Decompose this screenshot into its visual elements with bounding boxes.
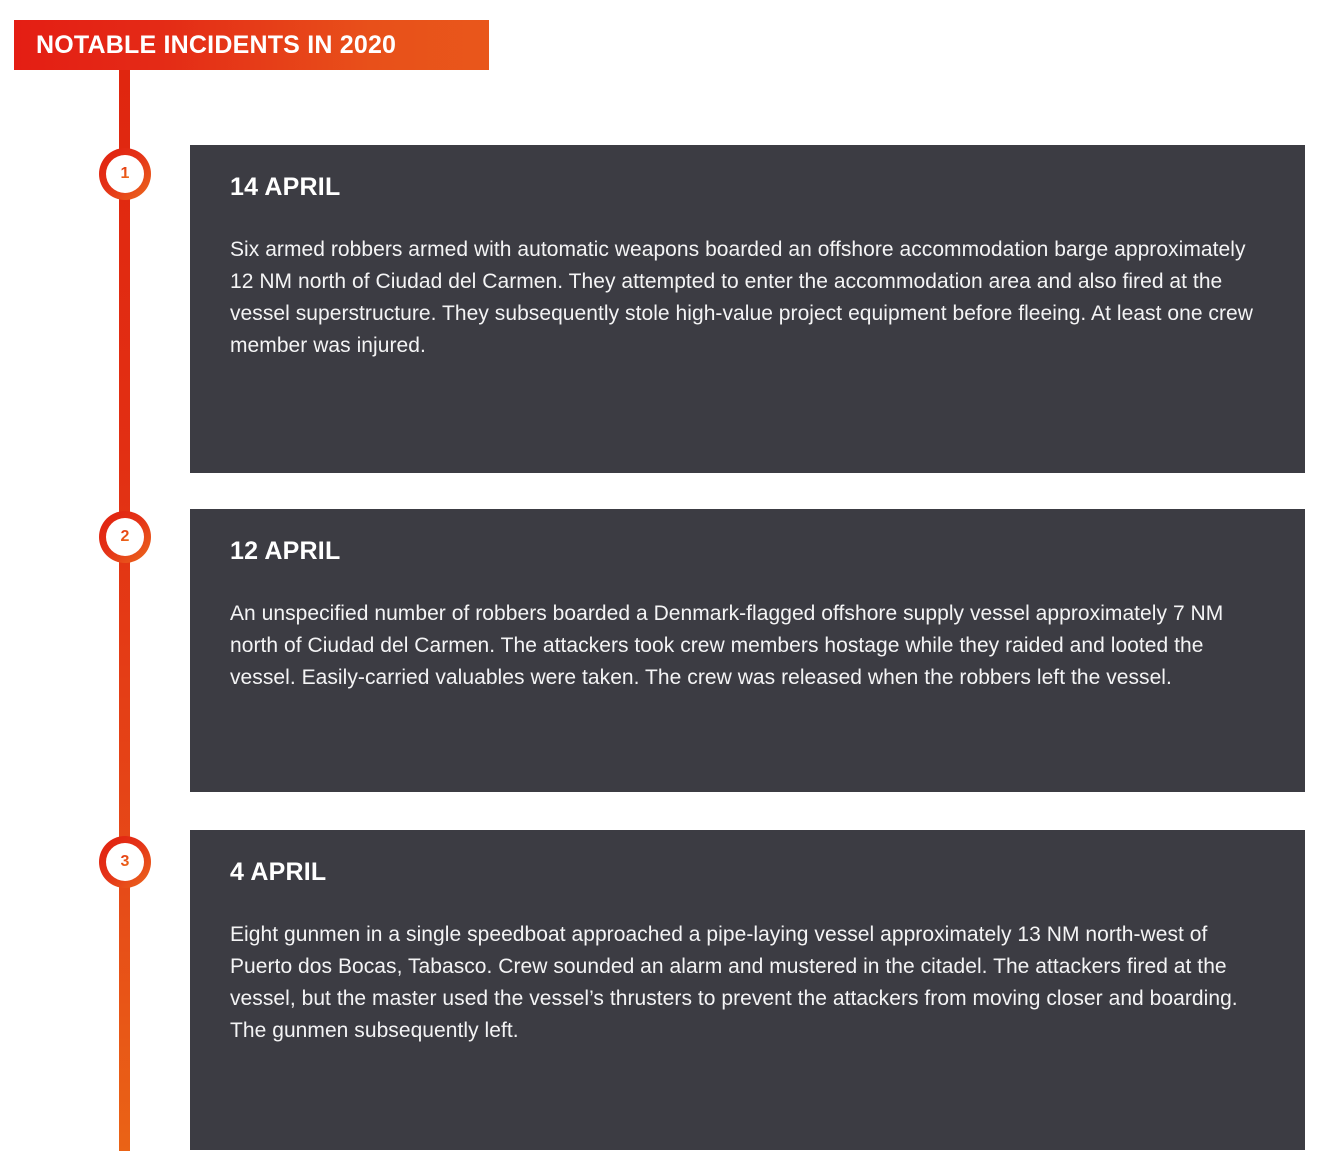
incident-description: An unspecified number of robbers boarded… (230, 598, 1265, 694)
incident-description: Eight gunmen in a single speedboat appro… (230, 919, 1265, 1047)
timeline-marker-number: 2 (121, 529, 130, 545)
timeline-marker-number: 3 (121, 854, 130, 870)
incident-card: 14 APRIL Six armed robbers armed with au… (190, 145, 1305, 473)
page-title: NOTABLE INCIDENTS IN 2020 (36, 33, 396, 58)
incident-date: 4 APRIL (230, 860, 1265, 885)
timeline-marker-2[interactable]: 2 (99, 511, 151, 563)
timeline-marker-1[interactable]: 1 (99, 148, 151, 200)
incident-description: Six armed robbers armed with automatic w… (230, 234, 1265, 362)
incident-card: 4 APRIL Eight gunmen in a single speedbo… (190, 830, 1305, 1150)
incident-card: 12 APRIL An unspecified number of robber… (190, 509, 1305, 792)
timeline-marker-number: 1 (121, 166, 130, 182)
incident-date: 12 APRIL (230, 539, 1265, 564)
incident-date: 14 APRIL (230, 175, 1265, 200)
header-banner: NOTABLE INCIDENTS IN 2020 (14, 20, 489, 70)
timeline-spine (119, 68, 130, 1151)
timeline-marker-3[interactable]: 3 (99, 836, 151, 888)
